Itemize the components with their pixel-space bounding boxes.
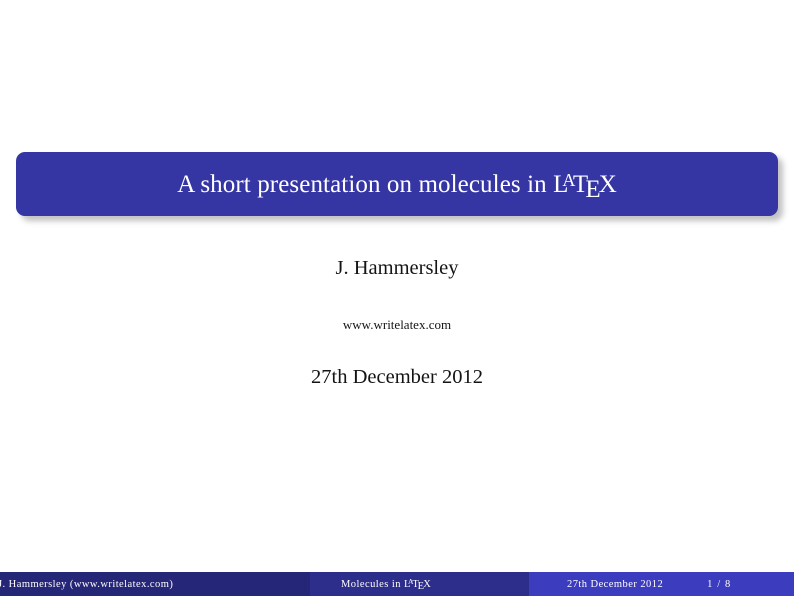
footer-date: 27th December 2012 <box>567 579 663 590</box>
footer-latex-logo-x: X <box>423 579 431 590</box>
title-prefix-text: A short presentation on molecules in <box>177 171 553 198</box>
latex-logo-a: a <box>562 170 575 190</box>
footer-bar: J. Hammersley (www.writelatex.com) Molec… <box>0 572 794 596</box>
footer-title-text: Molecules in LaTeX <box>341 579 431 590</box>
page-title: A short presentation on molecules in LaT… <box>177 172 617 197</box>
presentation-date: 27th December 2012 <box>0 367 794 388</box>
footer-latex-logo-e: e <box>418 581 424 592</box>
presentation-slide: A short presentation on molecules in LaT… <box>0 0 794 596</box>
title-slide-body: J. Hammersley www.writelatex.com 27th De… <box>0 258 794 387</box>
author-name: J. Hammersley <box>0 258 794 279</box>
footer-latex-logo: LaTeX <box>404 579 431 590</box>
footer-author-text: J. Hammersley (www.writelatex.com) <box>0 579 173 590</box>
footer-author-segment: J. Hammersley (www.writelatex.com) <box>0 572 310 596</box>
latex-logo: LaTeX <box>553 171 617 198</box>
footer-page-number: 1 / 8 <box>707 579 731 590</box>
footer-title-prefix: Molecules in <box>341 579 404 590</box>
footer-title-segment: Molecules in LaTeX <box>310 572 529 596</box>
latex-logo-e: e <box>585 176 600 203</box>
author-url: www.writelatex.com <box>0 318 794 331</box>
footer-latex-logo-a: a <box>408 577 413 586</box>
title-block: A short presentation on molecules in LaT… <box>16 152 778 216</box>
latex-logo-x: X <box>599 171 617 198</box>
footer-meta-segment: 27th December 2012 1 / 8 <box>529 572 794 596</box>
